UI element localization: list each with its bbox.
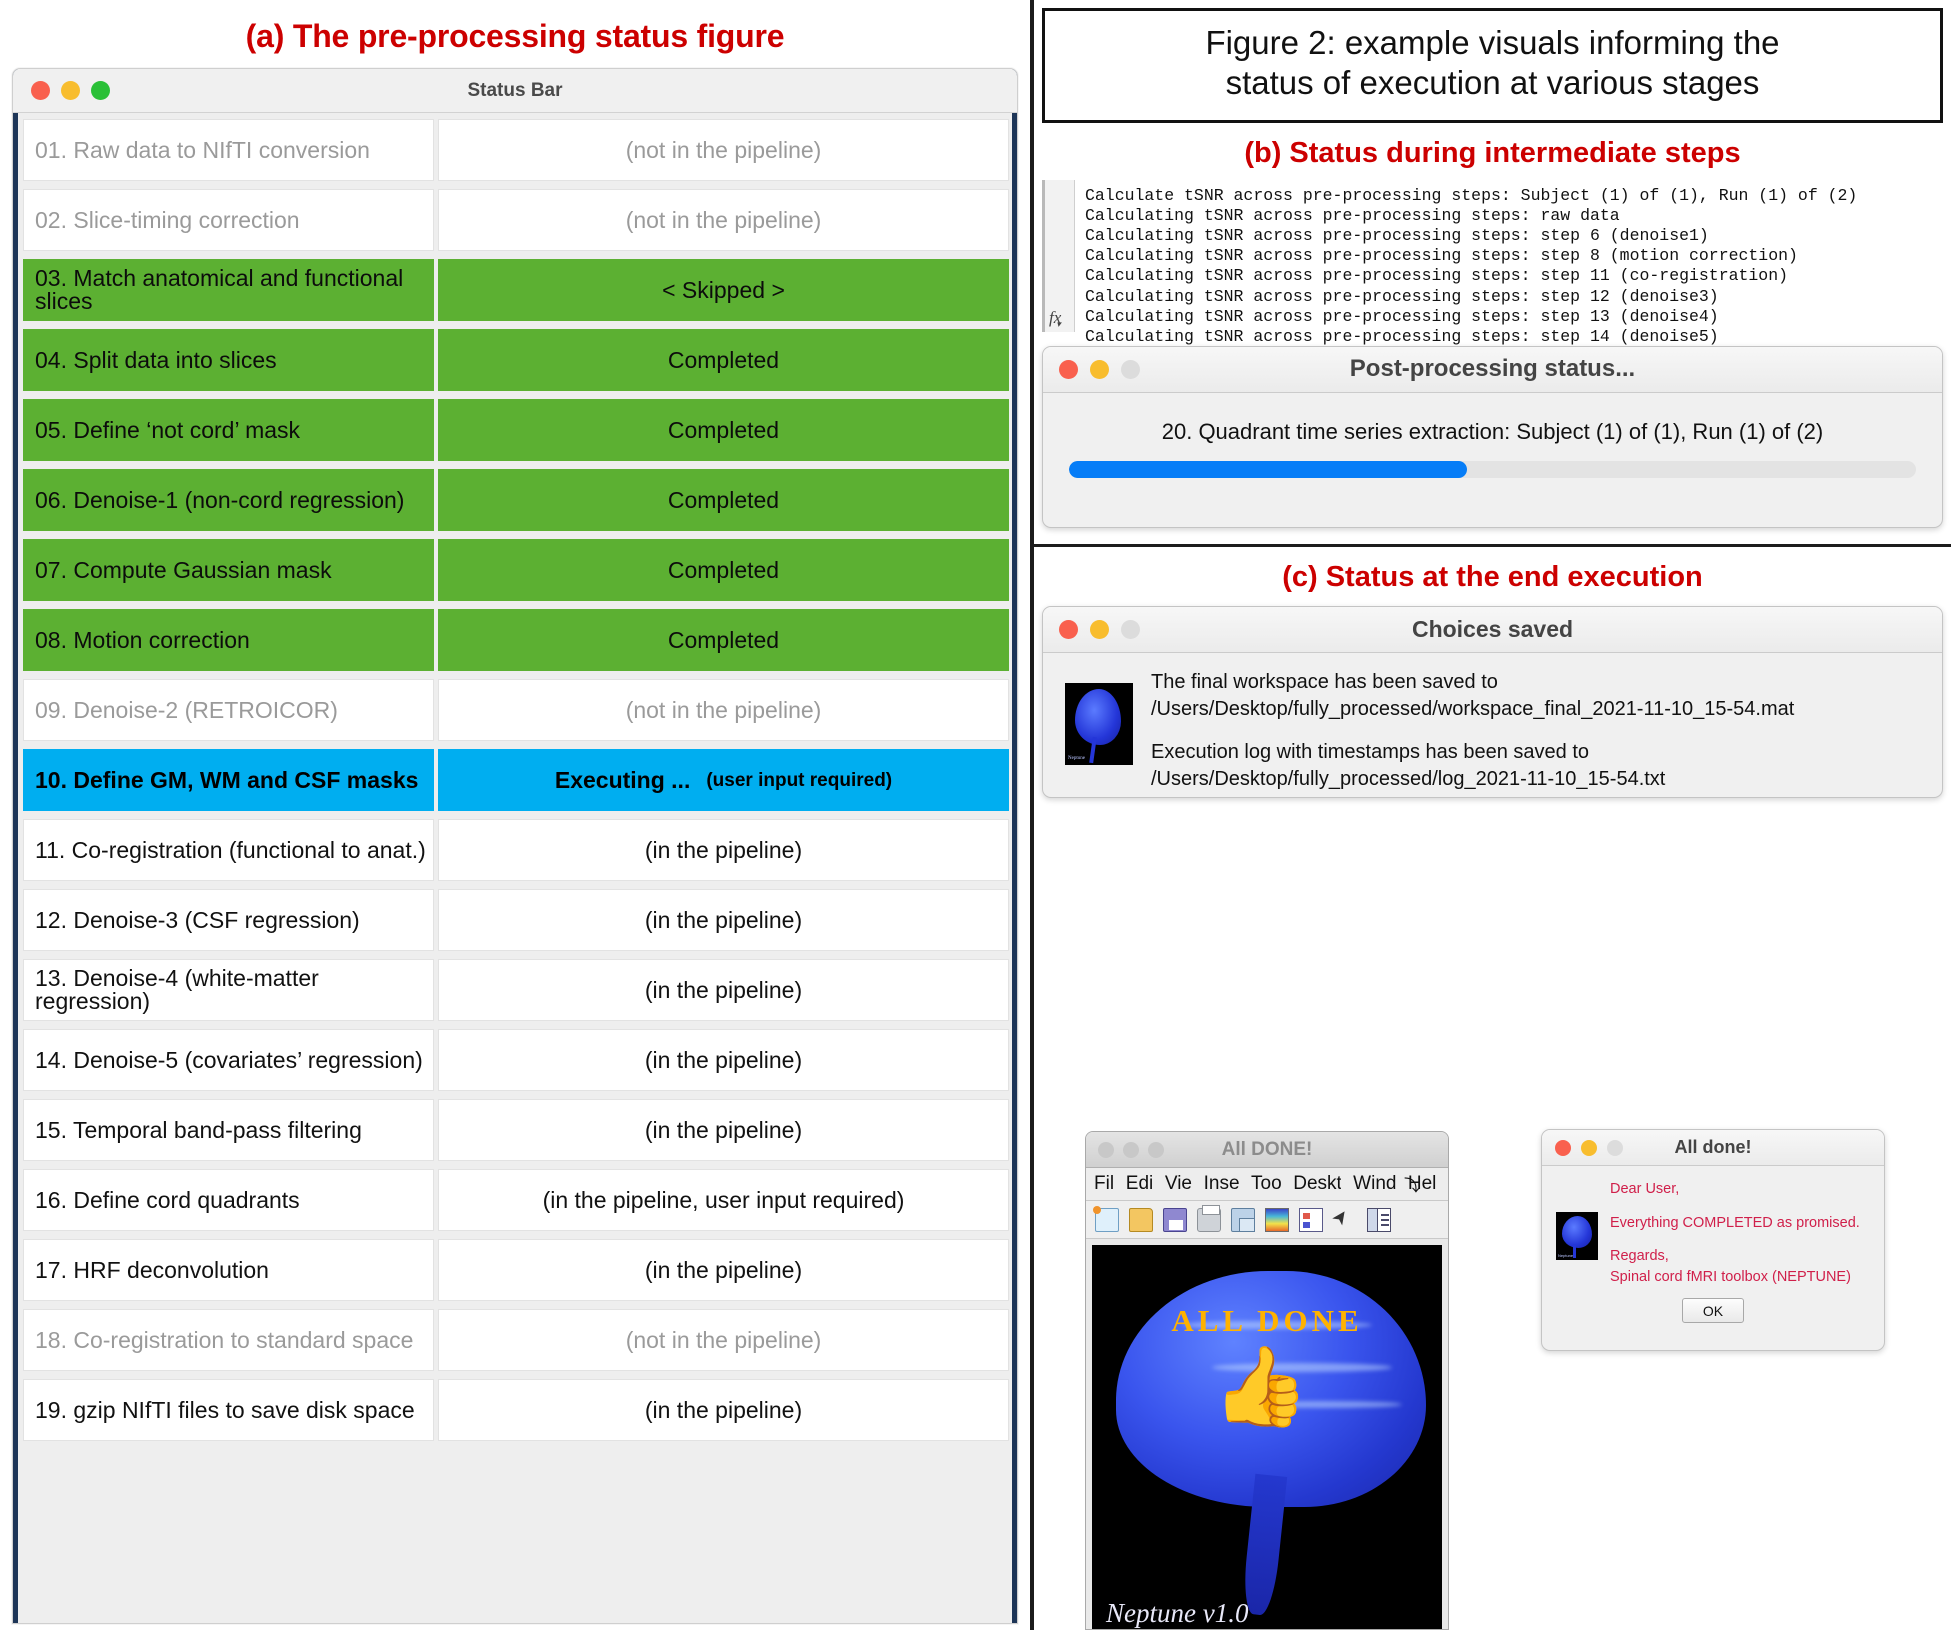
status-bar-window: Status Bar 01. Raw data to NIfTI convers… — [12, 68, 1018, 1624]
link-figure-icon[interactable] — [1231, 1208, 1255, 1232]
status-row: 07. Compute Gaussian maskCompleted — [23, 539, 1009, 601]
status-row-status-cell: Completed — [438, 469, 1009, 531]
progress-bar — [1069, 461, 1916, 478]
console-line: Calculating tSNR across pre-processing s… — [1085, 327, 1857, 347]
console-line: Calculating tSNR across pre-processing s… — [1085, 206, 1857, 226]
post-processing-label: 20. Quadrant time series extraction: Sub… — [1069, 419, 1916, 445]
status-row-status-note: (user input required) — [706, 771, 892, 790]
status-row: 12. Denoise-3 (CSF regression)(in the pi… — [23, 889, 1009, 951]
window-controls — [31, 81, 110, 100]
status-row-status-cell: (in the pipeline) — [438, 1239, 1009, 1301]
panel-a-container: (a) The pre-processing status figure Sta… — [0, 0, 1030, 1630]
console-output: fx Calculate tSNR across pre-processing … — [1042, 180, 1943, 332]
status-row-status: (in the pipeline, user input required) — [543, 1189, 905, 1212]
console-line: Calculating tSNR across pre-processing s… — [1085, 266, 1857, 286]
print-icon[interactable] — [1197, 1208, 1221, 1232]
status-row-status-cell: Completed — [438, 329, 1009, 391]
panels-bc-container: Figure 2: example visuals informing the … — [1034, 0, 1951, 1630]
status-row-name: 12. Denoise-3 (CSF regression) — [35, 909, 360, 932]
all-done-dialog-ok-button[interactable]: OK — [1682, 1298, 1744, 1323]
window-right-edge — [1012, 69, 1017, 1624]
status-row: 08. Motion correctionCompleted — [23, 609, 1009, 671]
status-row-status-cell: (in the pipeline) — [438, 889, 1009, 951]
console-line: Calculating tSNR across pre-processing s… — [1085, 287, 1857, 307]
dialog-signoff-2: Spinal cord fMRI toolbox (NEPTUNE) — [1610, 1267, 1860, 1288]
figure-page: (a) The pre-processing status figure Sta… — [0, 0, 1951, 1630]
status-row-name-cell: 18. Co-registration to standard space — [23, 1309, 434, 1371]
status-row: 16. Define cord quadrants(in the pipelin… — [23, 1169, 1009, 1231]
status-row-name-cell: 04. Split data into slices — [23, 329, 434, 391]
thumbnail-caption: Neptune — [1558, 1253, 1573, 1258]
status-row-name: 09. Denoise-2 (RETROICOR) — [35, 699, 338, 722]
status-row-name-cell: 11. Co-registration (functional to anat.… — [23, 819, 434, 881]
status-row-name: 07. Compute Gaussian mask — [35, 559, 332, 582]
status-row-status-cell: (not in the pipeline) — [438, 1309, 1009, 1371]
status-row-name: 10. Define GM, WM and CSF masks — [35, 769, 418, 792]
status-row-status: (not in the pipeline) — [626, 1329, 822, 1352]
status-row-status-cell: Executing ...(user input required) — [438, 749, 1009, 811]
status-row-name: 11. Co-registration (functional to anat.… — [35, 839, 426, 862]
status-row-name-cell: 01. Raw data to NIfTI conversion — [23, 119, 434, 181]
status-row-status-cell: (not in the pipeline) — [438, 189, 1009, 251]
pointer-cursor-icon[interactable] — [1333, 1208, 1357, 1232]
thumbs-up-icon: 👍 — [1212, 1347, 1309, 1425]
progress-bar-fill — [1069, 461, 1467, 478]
status-row-status: (in the pipeline) — [645, 839, 802, 862]
new-document-icon[interactable] — [1095, 1208, 1119, 1232]
menu-item-edi[interactable]: Edi — [1126, 1173, 1153, 1195]
status-row-name-cell: 15. Temporal band-pass filtering — [23, 1099, 434, 1161]
status-row: 18. Co-registration to standard space(no… — [23, 1309, 1009, 1371]
status-row: 14. Denoise-5 (covariates’ regression)(i… — [23, 1029, 1009, 1091]
dialog-message: Everything COMPLETED as promised. — [1610, 1213, 1860, 1234]
neptune-brain-thumbnail-icon: Neptune — [1556, 1212, 1598, 1260]
choices-saved-dialog: Choices saved Neptune The final workspac… — [1042, 606, 1943, 798]
status-row-name-cell: 17. HRF deconvolution — [23, 1239, 434, 1301]
status-row-name-cell: 09. Denoise-2 (RETROICOR) — [23, 679, 434, 741]
console-line: Calculating tSNR across pre-processing s… — [1085, 226, 1857, 246]
open-folder-icon[interactable] — [1129, 1208, 1153, 1232]
status-row-status-cell: (in the pipeline) — [438, 1379, 1009, 1441]
status-row-status: (in the pipeline) — [645, 979, 802, 1002]
menu-item-fil[interactable]: Fil — [1094, 1173, 1114, 1195]
status-row-status: (not in the pipeline) — [626, 209, 822, 232]
status-row-status: (in the pipeline) — [645, 1049, 802, 1072]
status-row-name-cell: 03. Match anatomical and functional slic… — [23, 259, 434, 321]
status-row-status-cell: (in the pipeline) — [438, 1099, 1009, 1161]
neptune-brain-thumbnail-icon: Neptune — [1065, 683, 1133, 765]
all-done-dialog-text: Dear User, Everything COMPLETED as promi… — [1610, 1179, 1860, 1287]
menu-item-too[interactable]: Too — [1251, 1173, 1281, 1195]
status-row-status: (in the pipeline) — [645, 1119, 802, 1142]
all-done-dialog-titlebar: All done! — [1542, 1130, 1884, 1166]
status-row-status-cell: Completed — [438, 609, 1009, 671]
minimize-button-icon[interactable] — [61, 81, 80, 100]
status-row-name-cell: 19. gzip NIfTI files to save disk space — [23, 1379, 434, 1441]
status-row-status: Completed — [668, 559, 779, 582]
status-row-status: (in the pipeline) — [645, 1399, 802, 1422]
status-row: 11. Co-registration (functional to anat.… — [23, 819, 1009, 881]
show-panel-icon[interactable] — [1367, 1208, 1391, 1232]
status-row-status: (in the pipeline) — [645, 1259, 802, 1282]
status-row-status: Completed — [668, 629, 779, 652]
status-row: 17. HRF deconvolution(in the pipeline) — [23, 1239, 1009, 1301]
status-row: 13. Denoise-4 (white-matter regression)(… — [23, 959, 1009, 1021]
status-row: 03. Match anatomical and functional slic… — [23, 259, 1009, 321]
all-done-menubar: FilEdiVieInseTooDesktWindHel⤵ — [1086, 1168, 1448, 1201]
status-row-name-cell: 08. Motion correction — [23, 609, 434, 671]
status-row-name-cell: 14. Denoise-5 (covariates’ regression) — [23, 1029, 434, 1091]
status-row-name: 19. gzip NIfTI files to save disk space — [35, 1399, 415, 1422]
menu-overflow-icon[interactable]: ⤵ — [1404, 1172, 1420, 1196]
menu-item-wind[interactable]: Wind — [1353, 1173, 1396, 1195]
post-processing-titlebar: Post-processing status... — [1043, 347, 1942, 393]
status-row: 01. Raw data to NIfTI conversion(not in … — [23, 119, 1009, 181]
status-row-status-cell: (not in the pipeline) — [438, 679, 1009, 741]
choices-saved-text: The final workspace has been saved to /U… — [1151, 669, 1794, 794]
status-row: 09. Denoise-2 (RETROICOR)(not in the pip… — [23, 679, 1009, 741]
status-bar-titlebar: Status Bar — [13, 69, 1017, 113]
console-line: Calculate tSNR across pre-processing ste… — [1085, 186, 1857, 206]
status-row-status: Completed — [668, 489, 779, 512]
status-row-status: Executing ... — [555, 769, 690, 792]
status-row-status: Completed — [668, 349, 779, 372]
menu-item-inse[interactable]: Inse — [1204, 1173, 1239, 1195]
dialog-signoff-1: Regards, — [1610, 1246, 1860, 1267]
status-row-name: 14. Denoise-5 (covariates’ regression) — [35, 1049, 423, 1072]
all-done-toolbar — [1086, 1201, 1448, 1239]
saved-workspace-path: /Users/Desktop/fully_processed/workspace… — [1151, 696, 1794, 723]
status-row: 02. Slice-timing correction(not in the p… — [23, 189, 1009, 251]
status-row-name: 06. Denoise-1 (non-cord regression) — [35, 489, 404, 512]
status-row-name: 17. HRF deconvolution — [35, 1259, 269, 1282]
status-row-name: 05. Define ‘not cord’ mask — [35, 419, 300, 442]
status-row-status: < Skipped > — [662, 279, 785, 302]
status-row-name: 15. Temporal band-pass filtering — [35, 1119, 362, 1142]
saved-workspace-label: The final workspace has been saved to — [1151, 669, 1794, 696]
status-row-status-cell: < Skipped > — [438, 259, 1009, 321]
fx-icon[interactable]: fx — [1049, 308, 1066, 328]
status-row-name-cell: 10. Define GM, WM and CSF masks — [23, 749, 434, 811]
status-row: 05. Define ‘not cord’ maskCompleted — [23, 399, 1009, 461]
menu-item-deskt[interactable]: Deskt — [1293, 1173, 1341, 1195]
status-row-status: (in the pipeline) — [645, 909, 802, 932]
status-row-status: Completed — [668, 419, 779, 442]
status-row-status-cell: (in the pipeline) — [438, 819, 1009, 881]
all-done-image-heading: ALL DONE — [1092, 1303, 1442, 1339]
status-row-name: 02. Slice-timing correction — [35, 209, 300, 232]
dialog-greeting: Dear User, — [1610, 1179, 1860, 1200]
status-row-name: 18. Co-registration to standard space — [35, 1329, 413, 1352]
status-row: 10. Define GM, WM and CSF masksExecuting… — [23, 749, 1009, 811]
status-row-name-cell: 13. Denoise-4 (white-matter regression) — [23, 959, 434, 1021]
choices-saved-title: Choices saved — [1043, 616, 1942, 643]
saved-log-path: /Users/Desktop/fully_processed/log_2021-… — [1151, 766, 1794, 793]
status-row: 04. Split data into slicesCompleted — [23, 329, 1009, 391]
choices-saved-titlebar: Choices saved — [1043, 607, 1942, 653]
figure-caption-box: Figure 2: example visuals informing the … — [1042, 8, 1943, 123]
all-done-dialog-body: Neptune Dear User, Everything COMPLETED … — [1542, 1166, 1884, 1287]
panel-a-title: (a) The pre-processing status figure — [0, 0, 1030, 55]
all-done-figure-window: All DONE! FilEdiVieInseTooDesktWindHel⤵ — [1085, 1131, 1449, 1630]
status-row-name-cell: 12. Denoise-3 (CSF regression) — [23, 889, 434, 951]
status-row-status-cell: (in the pipeline, user input required) — [438, 1169, 1009, 1231]
panel-c-title: (c) Status at the end execution — [1034, 561, 1951, 594]
status-row: 06. Denoise-1 (non-cord regression)Compl… — [23, 469, 1009, 531]
status-row-status: (not in the pipeline) — [626, 699, 822, 722]
section-divider — [1034, 544, 1951, 547]
status-row-name: 04. Split data into slices — [35, 349, 277, 372]
window-left-edge — [13, 69, 18, 1624]
all-done-brain-image: ALL DONE 👍 Neptune v1.0 — [1092, 1245, 1442, 1630]
neptune-version-caption: Neptune v1.0 — [1106, 1598, 1248, 1629]
status-row-name: 16. Define cord quadrants — [35, 1189, 300, 1212]
all-done-message-dialog: All done! Neptune Dear User, Everything … — [1541, 1129, 1885, 1351]
console-line: Calculating tSNR across pre-processing s… — [1085, 246, 1857, 266]
maximize-button-icon[interactable] — [91, 81, 110, 100]
close-button-icon[interactable] — [31, 81, 50, 100]
status-row: 15. Temporal band-pass filtering(in the … — [23, 1099, 1009, 1161]
status-row-name-cell: 05. Define ‘not cord’ mask — [23, 399, 434, 461]
console-gutter: fx — [1045, 180, 1075, 332]
thumbnail-caption: Neptune — [1068, 756, 1085, 761]
colorbar-icon[interactable] — [1265, 1208, 1289, 1232]
status-row-name: 01. Raw data to NIfTI conversion — [35, 139, 370, 162]
status-row-name-cell: 07. Compute Gaussian mask — [23, 539, 434, 601]
all-done-window-title: All DONE! — [1086, 1139, 1448, 1161]
status-row-name-cell: 06. Denoise-1 (non-cord regression) — [23, 469, 434, 531]
all-done-titlebar: All DONE! — [1086, 1132, 1448, 1168]
status-row-status-cell: Completed — [438, 539, 1009, 601]
status-row-status-cell: Completed — [438, 399, 1009, 461]
status-row-name-cell: 16. Define cord quadrants — [23, 1169, 434, 1231]
figure-caption-line-2: status of execution at various stages — [1055, 63, 1930, 103]
console-line-list: Calculate tSNR across pre-processing ste… — [1075, 180, 1857, 332]
status-row-status: (not in the pipeline) — [626, 139, 822, 162]
status-row-status-cell: (not in the pipeline) — [438, 119, 1009, 181]
status-row-status-cell: (in the pipeline) — [438, 959, 1009, 1021]
legend-icon[interactable] — [1299, 1208, 1323, 1232]
status-row: 19. gzip NIfTI files to save disk space(… — [23, 1379, 1009, 1441]
all-done-dialog-title: All done! — [1542, 1137, 1884, 1158]
status-row-status-cell: (in the pipeline) — [438, 1029, 1009, 1091]
save-disk-icon[interactable] — [1163, 1208, 1187, 1232]
post-processing-status-window: Post-processing status... 20. Quadrant t… — [1042, 346, 1943, 528]
console-line: Calculating tSNR across pre-processing s… — [1085, 307, 1857, 327]
status-row-name: 03. Match anatomical and functional slic… — [35, 267, 433, 313]
choices-saved-body: Neptune The final workspace has been sav… — [1043, 653, 1942, 794]
status-row-name: 08. Motion correction — [35, 629, 250, 652]
status-bar-title: Status Bar — [13, 80, 1017, 102]
post-processing-body: 20. Quadrant time series extraction: Sub… — [1043, 393, 1942, 478]
figure-caption-line-1: Figure 2: example visuals informing the — [1055, 23, 1930, 63]
status-table: 01. Raw data to NIfTI conversion(not in … — [13, 113, 1017, 1441]
menu-item-vie[interactable]: Vie — [1165, 1173, 1192, 1195]
post-processing-title: Post-processing status... — [1043, 355, 1942, 383]
panel-b-title: (b) Status during intermediate steps — [1034, 137, 1951, 170]
status-row-name-cell: 02. Slice-timing correction — [23, 189, 434, 251]
saved-log-label: Execution log with timestamps has been s… — [1151, 739, 1794, 766]
status-row-name: 13. Denoise-4 (white-matter regression) — [35, 967, 433, 1013]
